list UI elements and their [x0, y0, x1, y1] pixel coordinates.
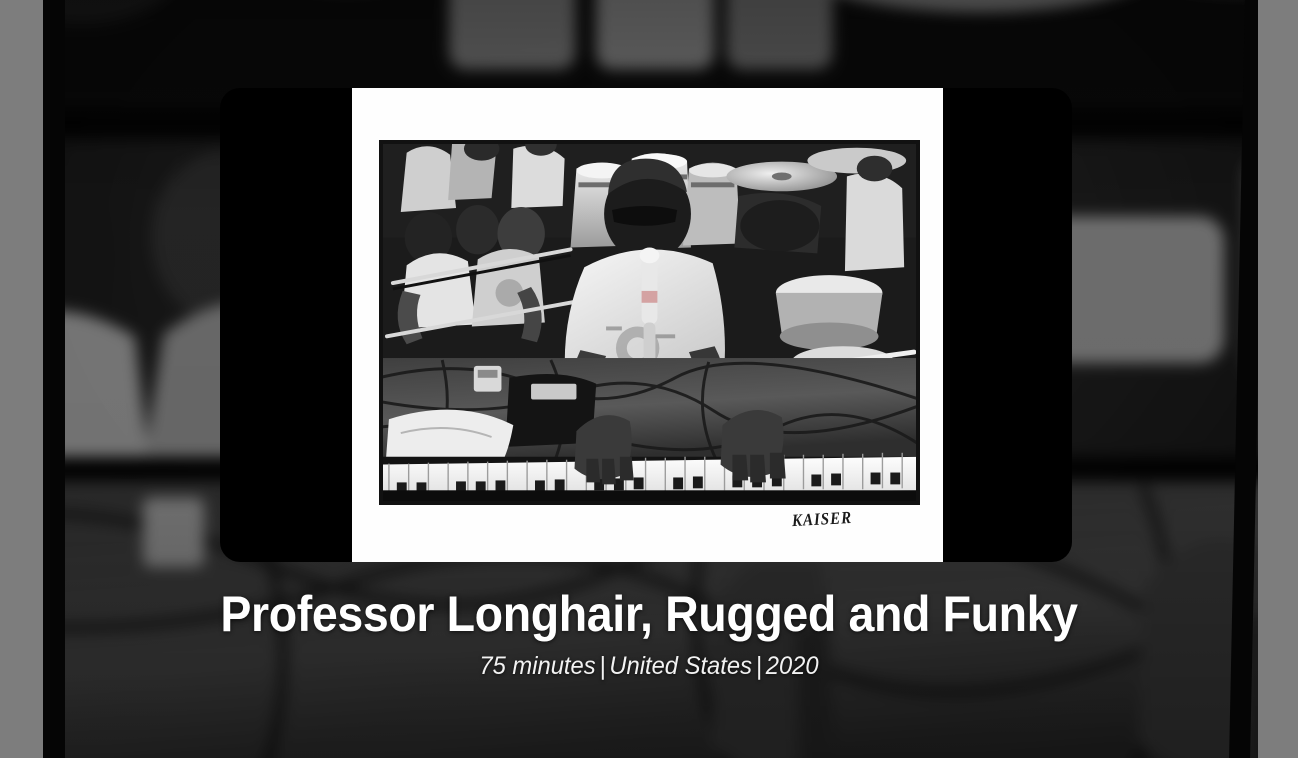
meta-separator-1: | — [596, 652, 610, 680]
photo-mat: KAISER — [352, 88, 943, 562]
photo-print — [383, 144, 916, 501]
film-duration: 75 minutes — [479, 652, 595, 680]
film-year: 2020 — [766, 652, 819, 680]
photo-frame — [379, 140, 920, 505]
poster-card: KAISER — [220, 88, 1072, 562]
concert-photograph-art — [383, 144, 916, 501]
film-country: United States — [609, 652, 752, 680]
caption-block: Professor Longhair, Rugged and Funky 75 … — [0, 585, 1298, 681]
meta-separator-2: | — [752, 652, 766, 680]
film-title: Professor Longhair, Rugged and Funky — [45, 585, 1252, 644]
slide-canvas: KAISER Professor Longhair, Rugged and Fu… — [0, 0, 1298, 758]
photographer-signature: KAISER — [792, 509, 853, 532]
film-meta: 75 minutes|United States|2020 — [32, 652, 1265, 681]
